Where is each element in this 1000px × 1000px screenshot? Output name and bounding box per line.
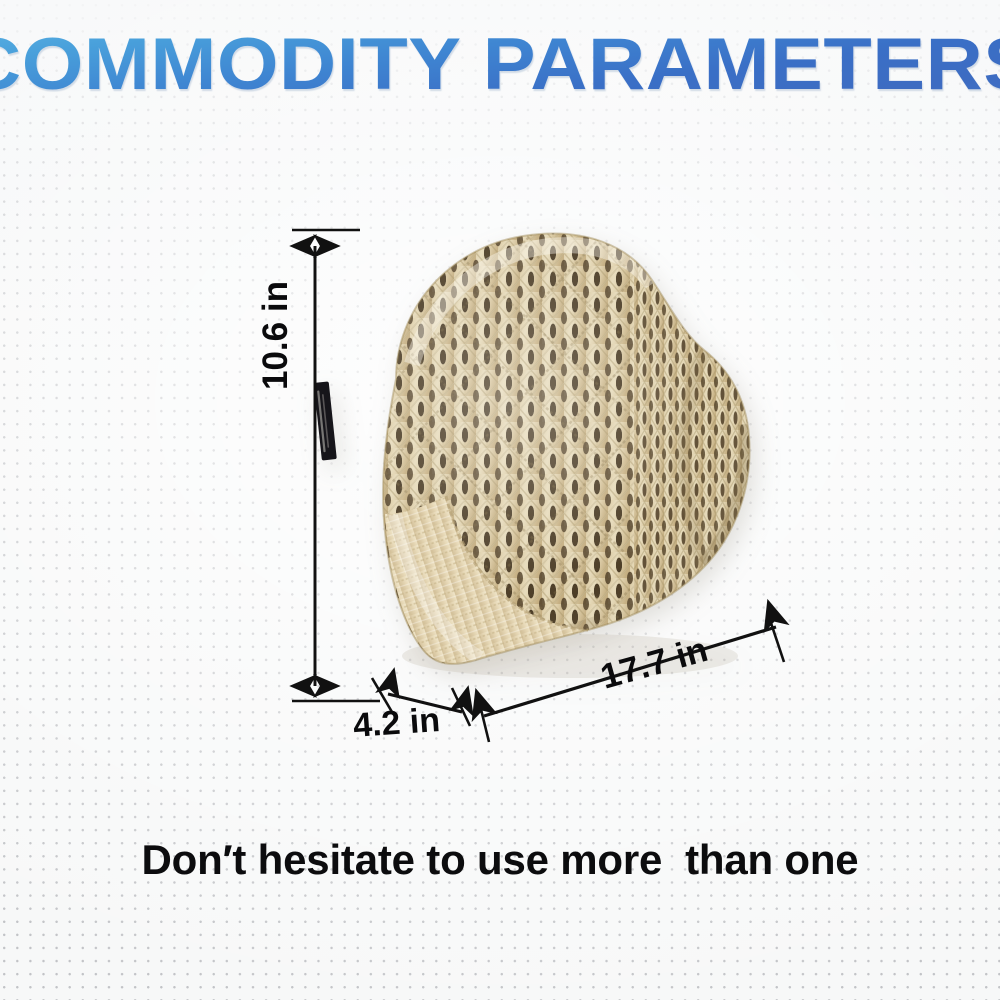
footer-tagline: Don′t hesitate to use more than one xyxy=(0,836,1000,884)
infographic-canvas: COMMODITY PARAMETERS xyxy=(0,0,1000,1000)
brand-label-tag xyxy=(314,381,337,460)
dimension-label-height: 10.6 in xyxy=(258,281,293,390)
header-band: COMMODITY PARAMETERS xyxy=(0,14,1000,114)
product-image-lumbar-cushion xyxy=(300,214,800,714)
page-title: COMMODITY PARAMETERS xyxy=(0,28,1000,101)
dimension-label-depth: 4.2 in xyxy=(352,703,441,743)
